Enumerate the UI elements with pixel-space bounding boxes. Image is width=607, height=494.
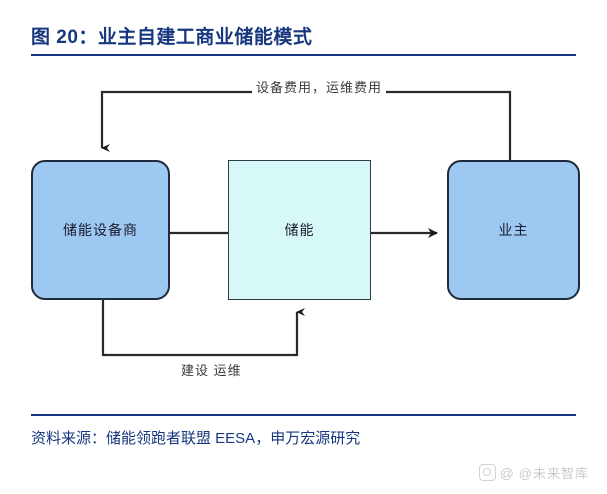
node-owner[interactable]: 业主 [447, 160, 580, 300]
watermark-logo-icon [479, 464, 496, 481]
at-sign-icon: @ [500, 465, 515, 481]
node-storage-label: 储能 [285, 220, 315, 240]
edge-owner-to-supplier [102, 92, 510, 160]
node-energy-storage[interactable]: 储能 [228, 160, 371, 300]
watermark-handle: @未来智库 [519, 463, 589, 482]
node-supplier-label: 储能设备商 [63, 220, 138, 240]
edge-label-top: 设备费用，运维费用 [252, 77, 386, 96]
source-text: 资料来源：储能领跑者联盟 EESA，申万宏源研究 [31, 427, 360, 448]
node-storage-equipment-supplier[interactable]: 储能设备商 [31, 160, 170, 300]
flow-diagram: 储能设备商 储能 业主 设备费用，运维费用 建设 运维 [0, 60, 607, 410]
page-title: 图 20：业主自建工商业储能模式 [31, 22, 312, 49]
node-owner-label: 业主 [499, 220, 529, 240]
title-divider [31, 54, 576, 56]
source-divider [31, 414, 576, 416]
watermark: @ @未来智库 [479, 463, 589, 482]
edge-label-bottom: 建设 运维 [177, 360, 246, 379]
edge-supplier-to-storage-bottom [103, 300, 297, 355]
